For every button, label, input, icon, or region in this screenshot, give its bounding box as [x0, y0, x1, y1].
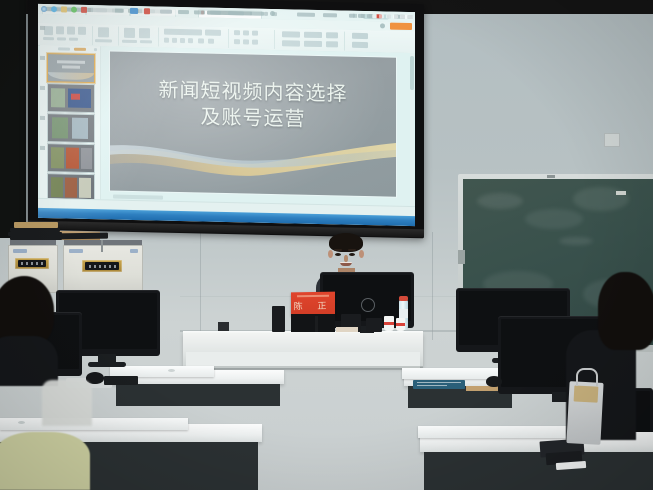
tray-ime-icon[interactable]	[386, 14, 391, 18]
desk-front-left-grommet	[18, 421, 25, 424]
projection-screen: 新闻短视频内容选择 及账号运营	[38, 4, 415, 226]
paper-cup-right-band	[396, 323, 405, 326]
tool-cut-label	[57, 37, 66, 40]
ribbon-separator-6	[344, 32, 345, 51]
slide-thumbnail-4[interactable]	[47, 143, 95, 173]
tool-align-right[interactable]	[252, 31, 258, 36]
student-left-body	[0, 336, 58, 386]
keypad-dot	[99, 265, 101, 268]
thumb-image-i	[65, 177, 77, 197]
tool-strike[interactable]	[188, 38, 193, 43]
tote-bag-handle	[576, 368, 598, 386]
thumbpane-outline-tab[interactable]	[74, 48, 86, 51]
student-right-hair	[598, 272, 653, 350]
tool-outline[interactable]	[304, 41, 322, 47]
tool-fill[interactable]	[282, 40, 300, 46]
speaker-left	[272, 306, 285, 332]
tray-network-icon[interactable]	[372, 14, 377, 18]
tray-volume-icon[interactable]	[379, 14, 384, 18]
thumb-number-3	[40, 86, 45, 90]
thumb-image-d	[72, 118, 88, 139]
nameplate: 陈 正	[291, 292, 335, 317]
start-slideshow-button[interactable]	[390, 23, 412, 30]
tool-bold[interactable]	[164, 38, 169, 43]
slide-wave-graphic	[110, 133, 396, 186]
ribbon-separator-2	[118, 27, 119, 46]
paper-cup-left-band	[384, 322, 394, 325]
desk-mid-left-grommet	[168, 369, 175, 372]
keyboard-left[interactable]	[104, 376, 138, 385]
water-bottle-label	[399, 309, 408, 318]
chalk-streak-2	[559, 237, 593, 245]
thumb-image-c	[52, 117, 68, 138]
tool-format-painter[interactable]	[78, 27, 86, 35]
keypad-dot	[31, 262, 33, 265]
tool-effects[interactable]	[326, 41, 338, 47]
thumb-title-line2	[62, 65, 80, 68]
browser-icon[interactable]	[51, 6, 57, 12]
ribbon-separator-3	[158, 28, 159, 47]
safe-left-badge	[13, 249, 27, 253]
tool-section[interactable]	[139, 28, 150, 38]
nameplate-base	[291, 314, 335, 332]
keypad-dot	[36, 262, 38, 265]
dell-logo-icon	[361, 298, 375, 312]
slide-canvas-area: 新闻短视频内容选择 及账号运营	[101, 46, 415, 213]
tab-close-icon[interactable]	[264, 12, 268, 16]
ribbon-separator-4	[228, 29, 229, 48]
tool-new-slide-label	[95, 39, 112, 42]
classroom-scene: 新闻短视频内容选择 及账号运营	[0, 0, 653, 490]
ribbon-tab-tools[interactable]	[210, 10, 221, 14]
explorer-icon[interactable]	[61, 6, 67, 12]
tool-shapes[interactable]	[282, 31, 300, 37]
keypad-dot	[94, 265, 96, 268]
tool-copy-label	[69, 38, 78, 41]
tool-arrange[interactable]	[304, 32, 322, 38]
keypad-dot	[26, 262, 28, 265]
taskbar-ppt-file-icon	[144, 8, 150, 14]
status-comments-toggle[interactable]	[323, 13, 337, 17]
current-slide: 新闻短视频内容选择 及账号运营	[110, 51, 396, 196]
keypad-dot	[21, 262, 23, 265]
tool-align-center[interactable]	[243, 30, 249, 35]
search-icon[interactable]	[270, 11, 275, 16]
tote-bag	[566, 381, 603, 445]
cable-hanging	[101, 240, 103, 252]
tool-paste[interactable]	[44, 26, 53, 35]
tool-underline[interactable]	[180, 38, 185, 43]
teacher-eye-left	[335, 253, 341, 256]
keypad-dot	[89, 265, 91, 268]
ribbon-tab-view[interactable]	[194, 10, 205, 14]
folder-on-safe	[56, 233, 108, 240]
tool-quick-styles[interactable]	[326, 32, 338, 38]
tool-line-spacing[interactable]	[252, 40, 258, 45]
teacher-brow-left	[334, 249, 342, 251]
start-orb-icon[interactable]	[41, 6, 47, 12]
desk-front-right-under	[424, 452, 653, 490]
desk-label-line-1	[417, 382, 461, 383]
wall-outlet	[604, 133, 620, 147]
tool-new-slide[interactable]	[98, 27, 109, 37]
tool-font-name[interactable]	[164, 29, 202, 36]
teacher-nose	[344, 255, 348, 262]
media-icon[interactable]	[71, 7, 77, 13]
tool-layout-label	[122, 40, 137, 43]
keypad-dot	[109, 265, 111, 268]
safe-left-keypad[interactable]	[15, 258, 49, 269]
tool-paste-label	[43, 37, 54, 40]
student-jacket-mid	[42, 380, 92, 426]
slide-title-line-2: 及账号运营	[110, 101, 396, 133]
tool-layout[interactable]	[124, 28, 135, 38]
keypad-dot	[104, 265, 106, 268]
student-front-left-top	[0, 432, 90, 490]
wps-icon-taskbar[interactable]	[81, 7, 87, 13]
slide-thumbnail-3[interactable]	[47, 113, 95, 143]
ribbon-tab-extra[interactable]	[250, 11, 264, 15]
thumb-image-f	[66, 147, 79, 168]
tray-battery-icon[interactable]	[393, 15, 398, 19]
speaker-center	[366, 318, 382, 332]
status-view-sorter[interactable]	[358, 13, 364, 17]
taskbar-window-explorer[interactable]	[93, 7, 115, 13]
safe-right-keypad[interactable]	[82, 260, 122, 272]
tool-select[interactable]	[352, 42, 368, 48]
tool-italic[interactable]	[172, 38, 177, 43]
taskbar-clock[interactable]	[400, 15, 413, 19]
chalk-smudge-1	[477, 193, 523, 209]
wps-window: 新闻短视频内容选择 及账号运营	[38, 4, 415, 226]
status-notes-toggle[interactable]	[297, 12, 315, 16]
keypad-dot	[114, 265, 116, 268]
thumb-number-5	[40, 146, 45, 150]
desk-label-line-2	[417, 385, 447, 386]
thumbpane-collapse-icon[interactable]	[94, 48, 97, 51]
tool-section-label	[140, 40, 152, 43]
teacher-ear-right	[359, 250, 364, 258]
nameplate-top-bar	[297, 295, 329, 298]
thumb-image-j	[79, 178, 91, 198]
tool-font-size[interactable]	[205, 30, 221, 36]
board-clip	[547, 175, 555, 178]
thumb-image-b-accent	[71, 94, 80, 100]
podium-paper	[336, 327, 358, 332]
status-view-normal[interactable]	[349, 13, 355, 17]
safe-right-badge-right	[130, 249, 138, 253]
ribbon-tab-member[interactable]	[228, 11, 244, 15]
keypad-dot	[41, 262, 43, 265]
safe-right	[63, 245, 143, 295]
safe-right-badge-left	[69, 249, 83, 253]
tool-highlight[interactable]	[208, 39, 214, 44]
tool-cut[interactable]	[56, 26, 64, 34]
thumb-image-h	[51, 177, 63, 197]
wall-seam-right	[432, 232, 433, 340]
desk-front-left-lid	[0, 418, 188, 430]
left-dark-panel	[0, 0, 26, 238]
thumb-number-4	[40, 116, 45, 120]
thumb-image-g	[81, 148, 92, 169]
desk-mid-left-under	[116, 384, 280, 406]
ribbon-search-icon[interactable]	[380, 23, 385, 28]
tool-copy[interactable]	[67, 27, 75, 35]
tool-find[interactable]	[352, 33, 368, 39]
board-eraser[interactable]	[616, 191, 626, 195]
desk-mid-right-label	[413, 380, 465, 389]
teacher-brow-right	[348, 249, 356, 251]
thumb-image-e	[51, 147, 64, 168]
teacher-ear-left	[328, 250, 333, 258]
ribbon-tab-review[interactable]	[178, 9, 189, 13]
tool-bullets[interactable]	[234, 39, 240, 44]
teacher-eye-right	[349, 253, 355, 256]
thumb-number-2	[40, 56, 45, 60]
thumb-number-1	[40, 26, 45, 30]
board-hinge	[458, 250, 465, 264]
taskbar-window-ppt[interactable]	[130, 8, 138, 14]
chalk-smudge-2	[525, 209, 583, 229]
tote-bag-contents	[574, 385, 599, 402]
student-monitor-left-back-base	[88, 362, 126, 367]
podium-cable	[315, 316, 318, 332]
mouse-right[interactable]	[486, 376, 502, 387]
water-bottle-cap	[399, 296, 408, 301]
desk-front-right-lid	[418, 426, 568, 438]
thumb-image-a	[51, 88, 65, 107]
slide-scrollbar-thumb[interactable]	[410, 56, 414, 90]
slide-thumbnail-2[interactable]	[47, 83, 95, 113]
thumbpane-header	[58, 47, 70, 50]
thumb-wave	[48, 72, 94, 80]
slide-thumbnail-1[interactable]	[47, 53, 95, 83]
ribbon-separator-1	[92, 26, 93, 45]
ribbon-separator-5	[274, 30, 275, 49]
slide-title: 新闻短视频内容选择 及账号运营	[110, 75, 396, 133]
book-stack-dark-3	[10, 236, 62, 240]
nameplate-text: 陈 正	[291, 299, 335, 313]
tool-numbering[interactable]	[243, 39, 249, 44]
tool-align-left[interactable]	[234, 30, 240, 35]
thumb-title-line	[57, 60, 85, 64]
wall-seam-vertical	[200, 230, 201, 340]
tool-font-color[interactable]	[198, 38, 204, 43]
